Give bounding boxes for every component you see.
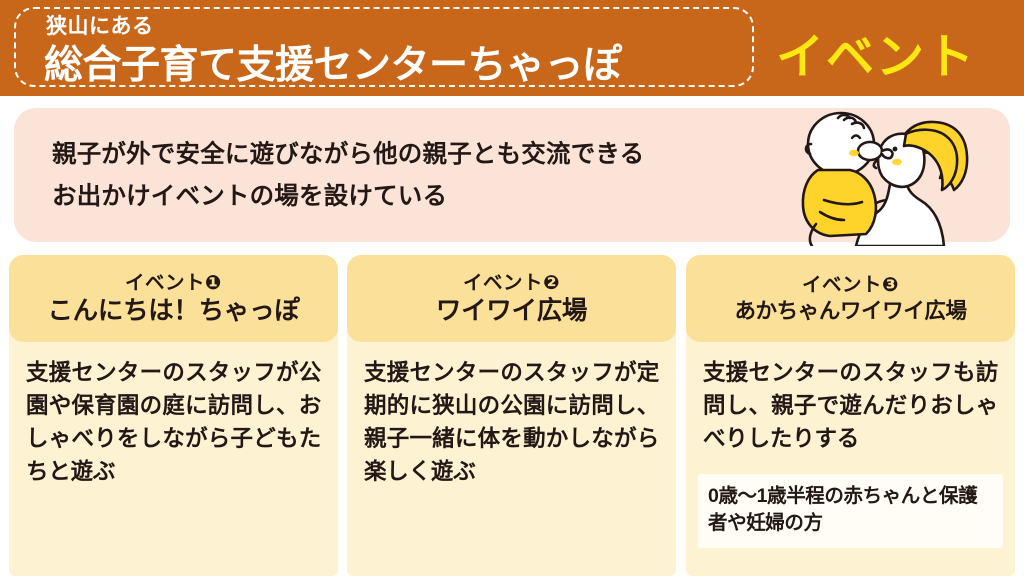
event-cards-row: イベント❶ こんにちは！ちゃっぽ 支援センターのスタッフが公園や保育園の庭に訪問… bbox=[0, 255, 1024, 576]
event-card-2-number: イベント❷ bbox=[463, 271, 560, 295]
slide-root: 狭山にある 総合子育て支援センターちゃっぽ イベント 親子が外で安全に遊びながら… bbox=[0, 0, 1024, 576]
event-card-1-number: イベント❶ bbox=[125, 271, 222, 295]
event-card-2-body: 支援センターのスタッフが定期的に狭山の公園に訪問し、親子一緒に体を動かしながら楽… bbox=[347, 342, 676, 488]
header-bar: 狭山にある 総合子育て支援センターちゃっぽ イベント bbox=[0, 0, 1024, 96]
header-title: 総合子育て支援センターちゃっぽ bbox=[44, 34, 622, 90]
event-card-2-title: ワイワイ広場 bbox=[436, 295, 587, 328]
description-panel: 親子が外で安全に遊びながら他の親子とも交流できる お出かけイベントの場を設けてい… bbox=[14, 108, 1010, 242]
event-card-1-title: こんにちは！ちゃっぽ bbox=[47, 295, 299, 328]
event-card-3-note: 0歳〜1歳半程の赤ちゃんと保護者や妊婦の方 bbox=[698, 474, 1003, 548]
description-text: 親子が外で安全に遊びながら他の親子とも交流できる お出かけイベントの場を設けてい… bbox=[52, 134, 752, 218]
event-card-2-header: イベント❷ ワイワイ広場 bbox=[347, 255, 676, 342]
event-card-3-title: あかちゃんワイワイ広場 bbox=[734, 298, 966, 326]
description-line-1: 親子が外で安全に遊びながら他の親子とも交流できる bbox=[52, 134, 752, 176]
event-card-1-body: 支援センターのスタッフが公園や保育園の庭に訪問し、おしゃべりをしながら子どもたち… bbox=[9, 342, 338, 488]
event-card-3-body: 支援センターのスタッフも訪問し、親子で遊んだりおしゃべりしたりする bbox=[686, 342, 1015, 455]
event-card-1[interactable]: イベント❶ こんにちは！ちゃっぽ 支援センターのスタッフが公園や保育園の庭に訪問… bbox=[9, 255, 338, 576]
event-card-3[interactable]: イベント❸ あかちゃんワイワイ広場 支援センターのスタッフも訪問し、親子で遊んだ… bbox=[686, 255, 1015, 576]
event-card-3-number: イベント❸ bbox=[802, 273, 899, 297]
event-card-1-header: イベント❶ こんにちは！ちゃっぽ bbox=[9, 255, 338, 342]
description-line-2: お出かけイベントの場を設けている bbox=[52, 176, 752, 218]
event-card-2[interactable]: イベント❷ ワイワイ広場 支援センターのスタッフが定期的に狭山の公園に訪問し、親… bbox=[347, 255, 676, 576]
mother-holding-baby-illustration bbox=[794, 104, 1004, 246]
header-event-label: イベント bbox=[776, 17, 976, 87]
event-card-3-header: イベント❸ あかちゃんワイワイ広場 bbox=[686, 255, 1015, 342]
